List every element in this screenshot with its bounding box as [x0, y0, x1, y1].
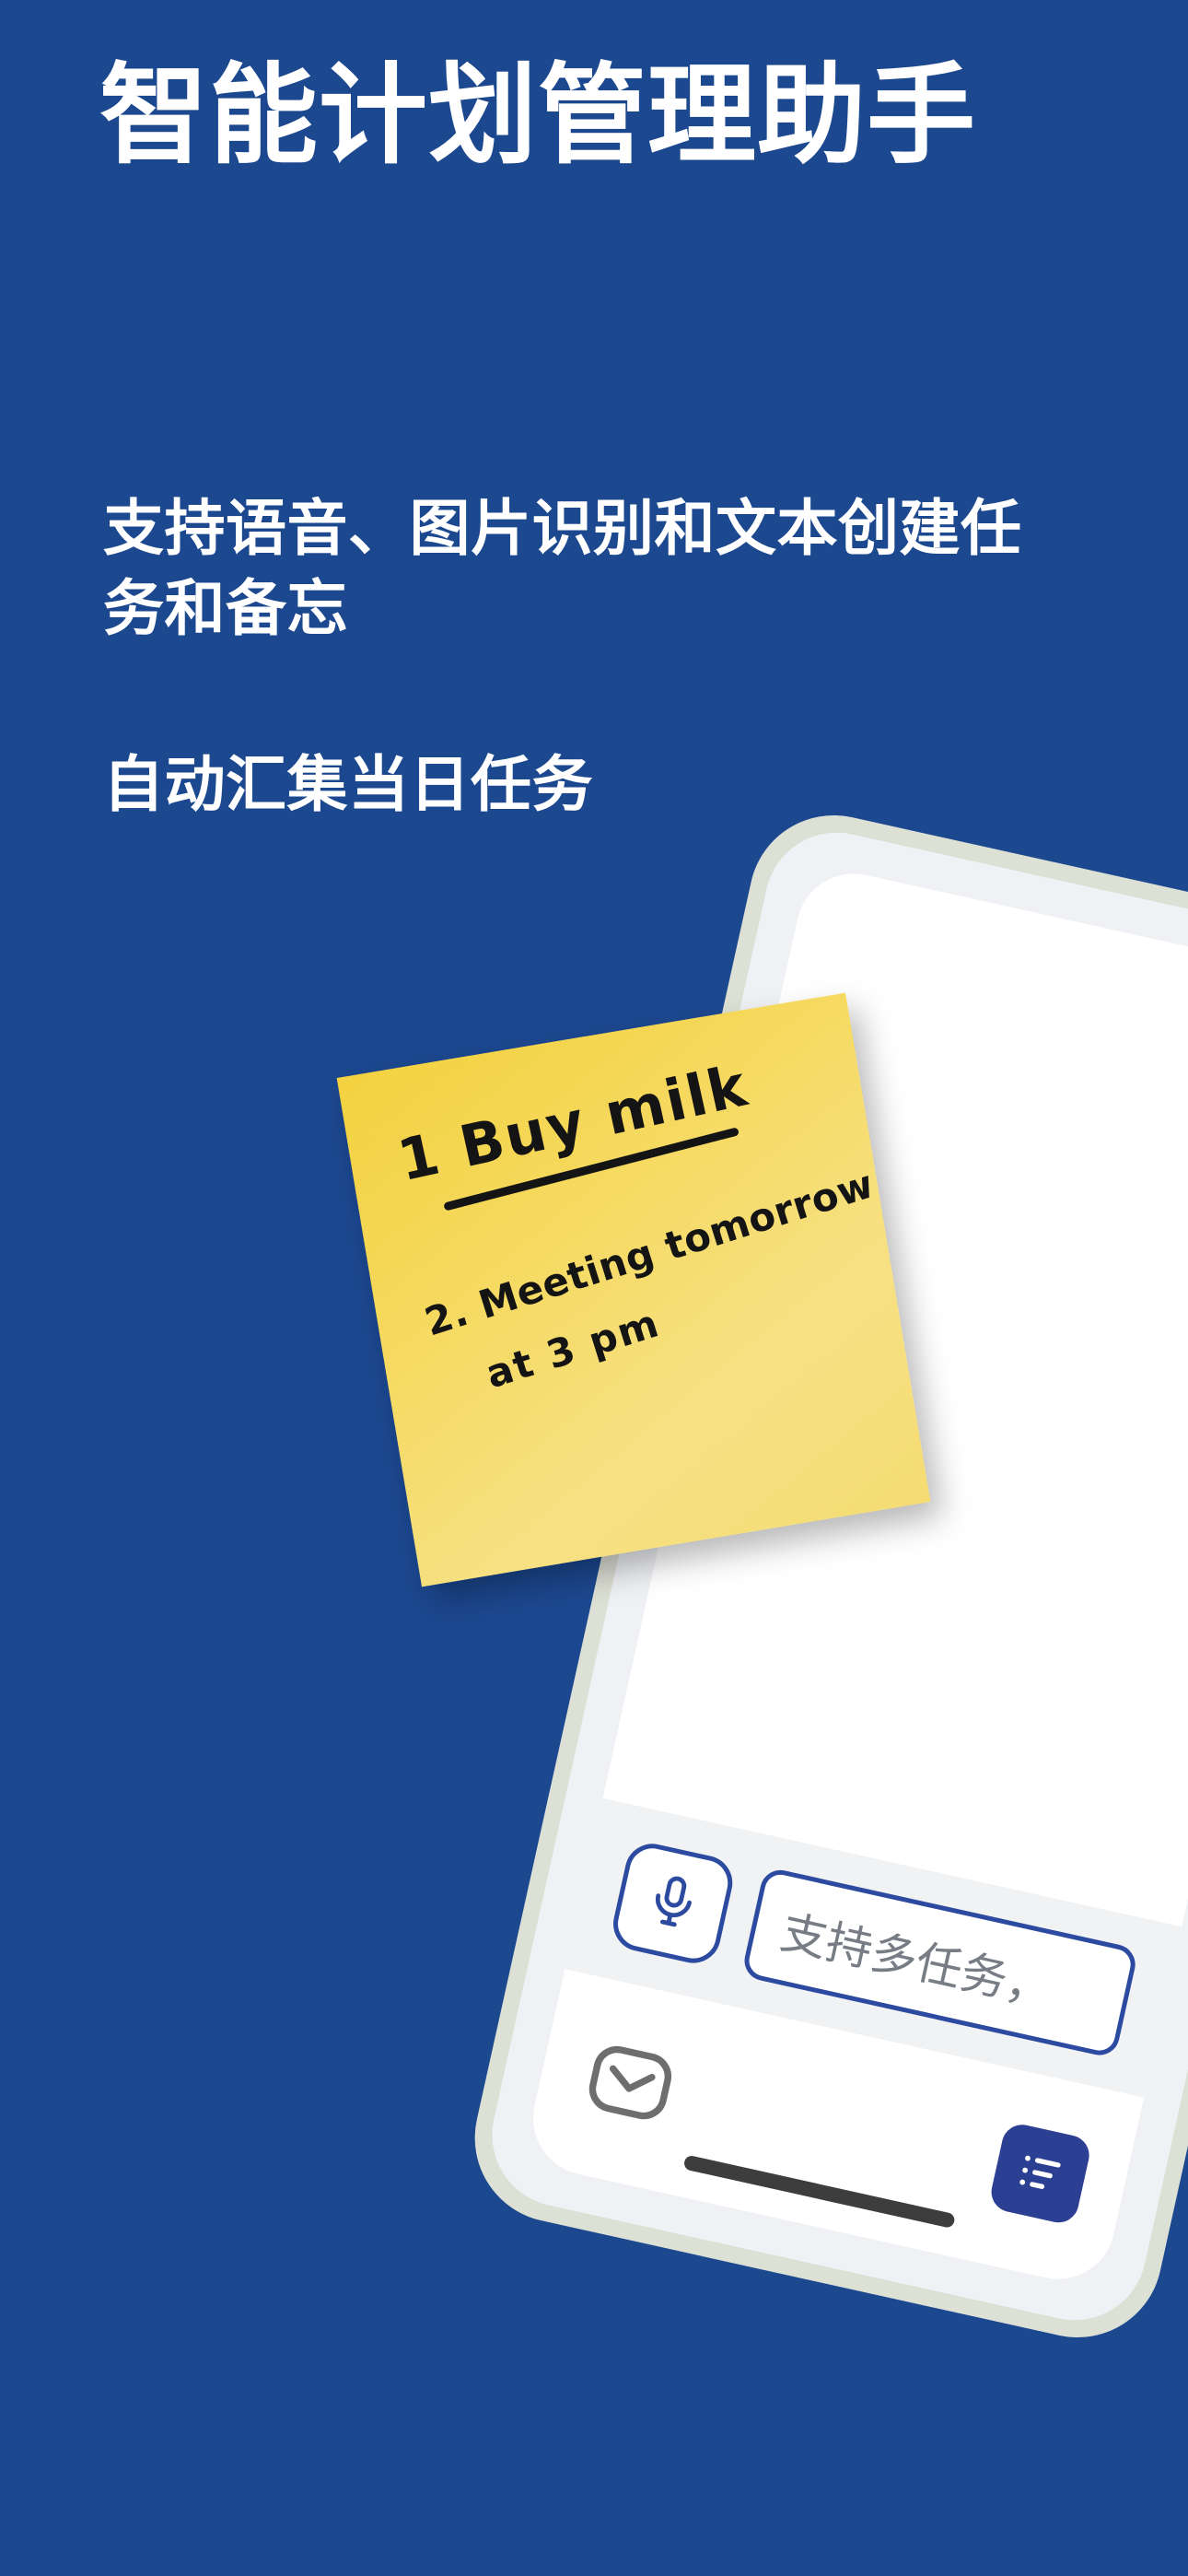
page-title: 智能计划管理助手 [99, 55, 1131, 177]
sticky-note: 1 Buy milk 2. Meeting tomorrow at 3 pm [337, 993, 931, 1587]
promo-screen: 智能计划管理助手 支持语音、图片识别和文本创建任务和备忘 自动汇集当日任务 [0, 0, 1188, 2576]
task-input-placeholder: 支持多任务， [775, 1895, 1059, 2020]
task-list-icon[interactable] [987, 2121, 1093, 2227]
microphone-icon [637, 1866, 708, 1940]
microphone-button[interactable] [608, 1839, 738, 1969]
note-line-1: 1 Buy milk [392, 1036, 824, 1195]
task-input-field[interactable]: 支持多任务， [740, 1867, 1139, 2059]
envelope-icon[interactable] [573, 2026, 687, 2140]
feature-text-secondary: 自动汇集当日任务 [103, 744, 593, 825]
feature-text-primary: 支持语音、图片识别和文本创建任务和备忘 [103, 488, 1024, 649]
action-row-spacer [677, 2093, 997, 2164]
sticky-note-content: 1 Buy milk 2. Meeting tomorrow at 3 pm [337, 993, 931, 1587]
